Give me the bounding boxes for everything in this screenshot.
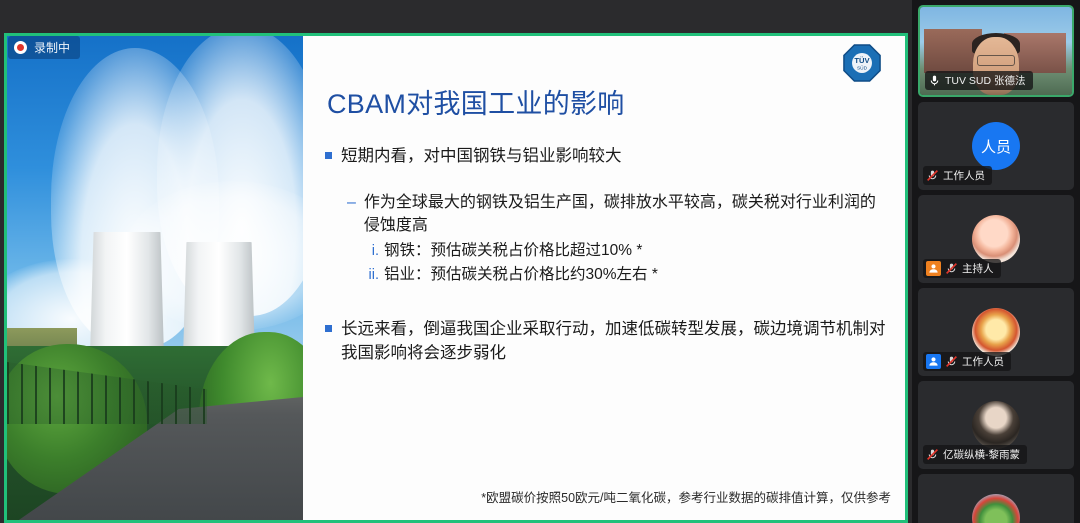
- tuv-sud-logo-icon: TÜV SÜD: [843, 44, 881, 82]
- list-item-text: 铝业：预估碳关税占价格比约30%左右 *: [384, 263, 658, 286]
- participant-tile[interactable]: 工作人员: [918, 288, 1074, 376]
- person-icon: [928, 263, 939, 274]
- screen-share-stage: TÜV SÜD CBAM对我国工业的影响 短期内看，对中国钢铁与铝业影响较大 –…: [0, 0, 912, 523]
- nameplate: 工作人员: [923, 352, 1011, 371]
- meeting-window: TÜV SÜD CBAM对我国工业的影响 短期内看，对中国钢铁与铝业影响较大 –…: [0, 0, 1080, 523]
- recording-label: 录制中: [34, 39, 70, 56]
- avatar: [972, 215, 1020, 263]
- slide-photo-cooling-towers: [7, 36, 303, 520]
- square-bullet-icon: [325, 325, 332, 332]
- participant-tile[interactable]: [918, 474, 1074, 523]
- roman-list: i. 钢铁：预估碳关税占价格比超过10% * ii. 铝业：预估碳关税占价格比约…: [365, 239, 887, 287]
- person-icon: [928, 356, 939, 367]
- mic-off-icon: [926, 169, 939, 182]
- slide-body: 短期内看，对中国钢铁与铝业影响较大 – 作为全球最大的钢铁及铝生产国，碳排放水平…: [325, 144, 887, 366]
- list-item: ii. 铝业：预估碳关税占价格比约30%左右 *: [365, 263, 887, 287]
- participant-tile[interactable]: 主持人: [918, 195, 1074, 283]
- list-item: i. 钢铁：预估碳关税占价格比超过10% *: [365, 239, 887, 263]
- slide-title: CBAM对我国工业的影响: [327, 82, 625, 121]
- bullet-text: 长远来看，倒逼我国企业采取行动，加速低碳转型发展，碳边境调节机制对我国影响将会逐…: [341, 317, 887, 367]
- participant-name: 亿碳纵横-黎雨蒙: [943, 447, 1020, 462]
- participant-name: 工作人员: [962, 354, 1004, 369]
- record-dot-icon: [14, 41, 27, 54]
- avatar: [972, 401, 1020, 449]
- dash-bullet-icon: –: [347, 191, 356, 214]
- list-item-text: 钢铁：预估碳关税占价格比超过10% *: [384, 239, 642, 262]
- mic-off-icon: [945, 355, 958, 368]
- avatar: [972, 494, 1020, 523]
- recording-indicator: 录制中: [8, 36, 80, 59]
- participant-name: TUV SUD 张德法: [945, 73, 1026, 88]
- participant-name: 工作人员: [943, 168, 985, 183]
- mic-off-icon: [926, 448, 939, 461]
- participant-tile[interactable]: 人员 工作人员: [918, 102, 1074, 190]
- glasses: [977, 55, 1015, 66]
- square-bullet-icon: [325, 152, 332, 159]
- mic-off-icon: [945, 262, 958, 275]
- avatar: [972, 308, 1020, 356]
- nameplate: 亿碳纵横-黎雨蒙: [923, 445, 1027, 464]
- participant-tile[interactable]: 亿碳纵横-黎雨蒙: [918, 381, 1074, 469]
- bullet-text: 短期内看，对中国钢铁与铝业影响较大: [341, 144, 622, 169]
- host-badge: [926, 261, 941, 276]
- staff-badge: [926, 354, 941, 369]
- nameplate: 工作人员: [923, 166, 992, 185]
- mic-on-icon: [928, 74, 941, 87]
- shared-content-frame[interactable]: TÜV SÜD CBAM对我国工业的影响 短期内看，对中国钢铁与铝业影响较大 –…: [4, 33, 908, 523]
- svg-text:TÜV: TÜV: [854, 56, 870, 65]
- participant-rail[interactable]: TUV SUD 张德法 人员 工作人员: [912, 0, 1080, 523]
- bullet-level2: – 作为全球最大的钢铁及铝生产国，碳排放水平较高，碳关税对行业利润的侵蚀度高: [347, 191, 887, 237]
- nameplate: 主持人: [923, 259, 1001, 278]
- list-marker: i.: [365, 241, 379, 263]
- sub-bullet-text: 作为全球最大的钢铁及铝生产国，碳排放水平较高，碳关税对行业利润的侵蚀度高: [364, 191, 887, 237]
- avatar: 人员: [972, 122, 1020, 170]
- bullet-level1: 短期内看，对中国钢铁与铝业影响较大: [325, 144, 887, 169]
- slide-footnote: *欧盟碳价按照50欧元/吨二氧化碳，参考行业数据的碳排值计算，仅供参考: [481, 487, 891, 506]
- nameplate: TUV SUD 张德法: [925, 71, 1033, 90]
- bullet-level1: 长远来看，倒逼我国企业采取行动，加速低碳转型发展，碳边境调节机制对我国影响将会逐…: [325, 317, 887, 367]
- slide-content: TÜV SÜD CBAM对我国工业的影响 短期内看，对中国钢铁与铝业影响较大 –…: [303, 36, 905, 520]
- participant-tile[interactable]: TUV SUD 张德法: [918, 5, 1074, 97]
- list-marker: ii.: [365, 265, 379, 287]
- participant-name: 主持人: [962, 261, 994, 276]
